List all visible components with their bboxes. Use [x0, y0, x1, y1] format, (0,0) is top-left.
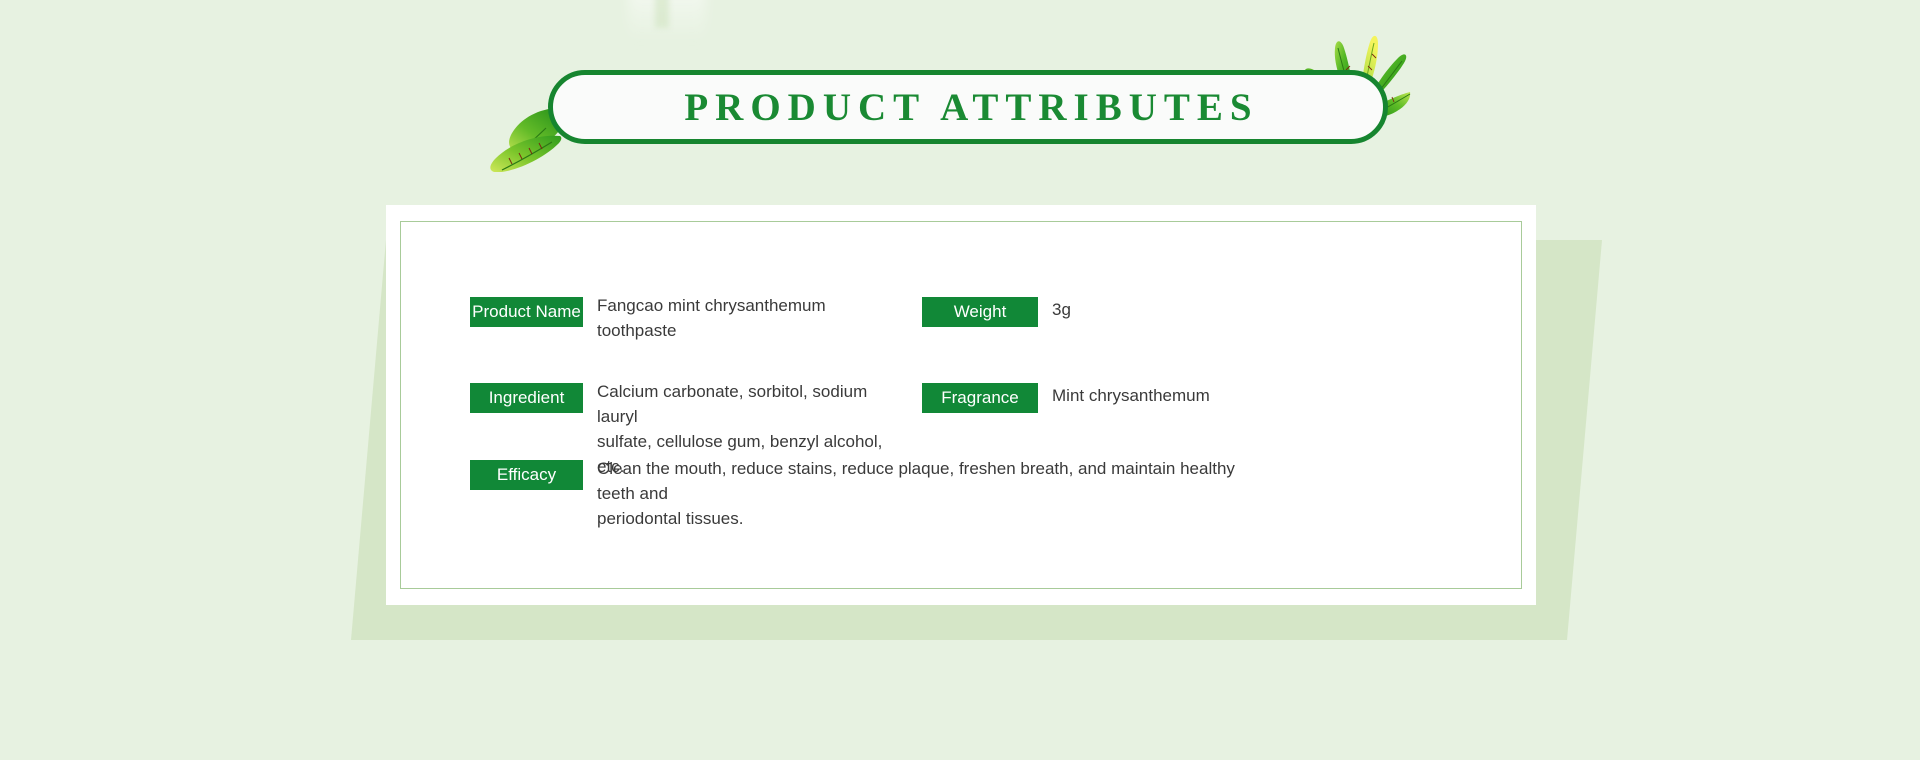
attributes-card: Product Name Fangcao mint chrysanthemum …	[386, 205, 1536, 605]
attribute-label-efficacy: Efficacy	[470, 460, 583, 490]
attribute-row-product-name: Product Name Fangcao mint chrysanthemum …	[470, 297, 907, 343]
attribute-row-efficacy: Efficacy Clean the mouth, reduce stains,…	[470, 460, 1277, 531]
attribute-row-fragrance: Fragrance Mint chrysanthemum	[922, 383, 1210, 413]
attribute-label-fragrance: Fragrance	[922, 383, 1038, 413]
attribute-label-product-name: Product Name	[470, 297, 583, 327]
attribute-value-efficacy: Clean the mouth, reduce stains, reduce p…	[597, 456, 1277, 531]
attribute-label-weight: Weight	[922, 297, 1038, 327]
page-title-banner: PRODUCT ATTRIBUTES	[548, 70, 1388, 144]
attribute-value-product-name: Fangcao mint chrysanthemum toothpaste	[597, 293, 907, 343]
attribute-value-weight: 3g	[1052, 297, 1071, 322]
attribute-value-fragrance: Mint chrysanthemum	[1052, 383, 1210, 408]
attribute-label-ingredient: Ingredient	[470, 383, 583, 413]
page-header: PRODUCT ATTRIBUTES	[0, 18, 1920, 158]
attributes-list: Product Name Fangcao mint chrysanthemum …	[386, 205, 1536, 605]
attribute-row-weight: Weight 3g	[922, 297, 1071, 327]
page-title: PRODUCT ATTRIBUTES	[677, 85, 1258, 130]
